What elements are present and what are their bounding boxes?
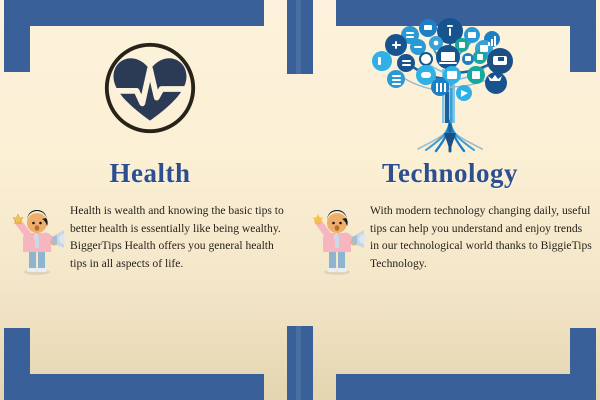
- technology-blurb-row: With modern technology changing daily, u…: [308, 198, 594, 281]
- panel-health: Health: [0, 0, 300, 400]
- technology-tree-icon: [366, 13, 534, 163]
- man-with-megaphone-mascot: [308, 202, 366, 276]
- panel-body-health: Health is wealth and knowing the basic t…: [70, 198, 294, 272]
- technology-mascot-slot: [308, 202, 370, 281]
- man-with-megaphone-mascot: [8, 202, 66, 276]
- health-mascot-slot: [8, 202, 70, 281]
- technology-artwork: [300, 18, 600, 158]
- panel-title-technology: Technology: [300, 158, 600, 189]
- panel-technology: Technology: [300, 0, 600, 400]
- panel-body-technology: With modern technology changing daily, u…: [370, 198, 594, 272]
- health-artwork: [0, 18, 300, 158]
- poster-canvas: Health: [0, 0, 600, 400]
- heart-pulse-icon: [102, 40, 198, 136]
- panel-title-health: Health: [0, 158, 300, 189]
- health-blurb-row: Health is wealth and knowing the basic t…: [8, 198, 294, 281]
